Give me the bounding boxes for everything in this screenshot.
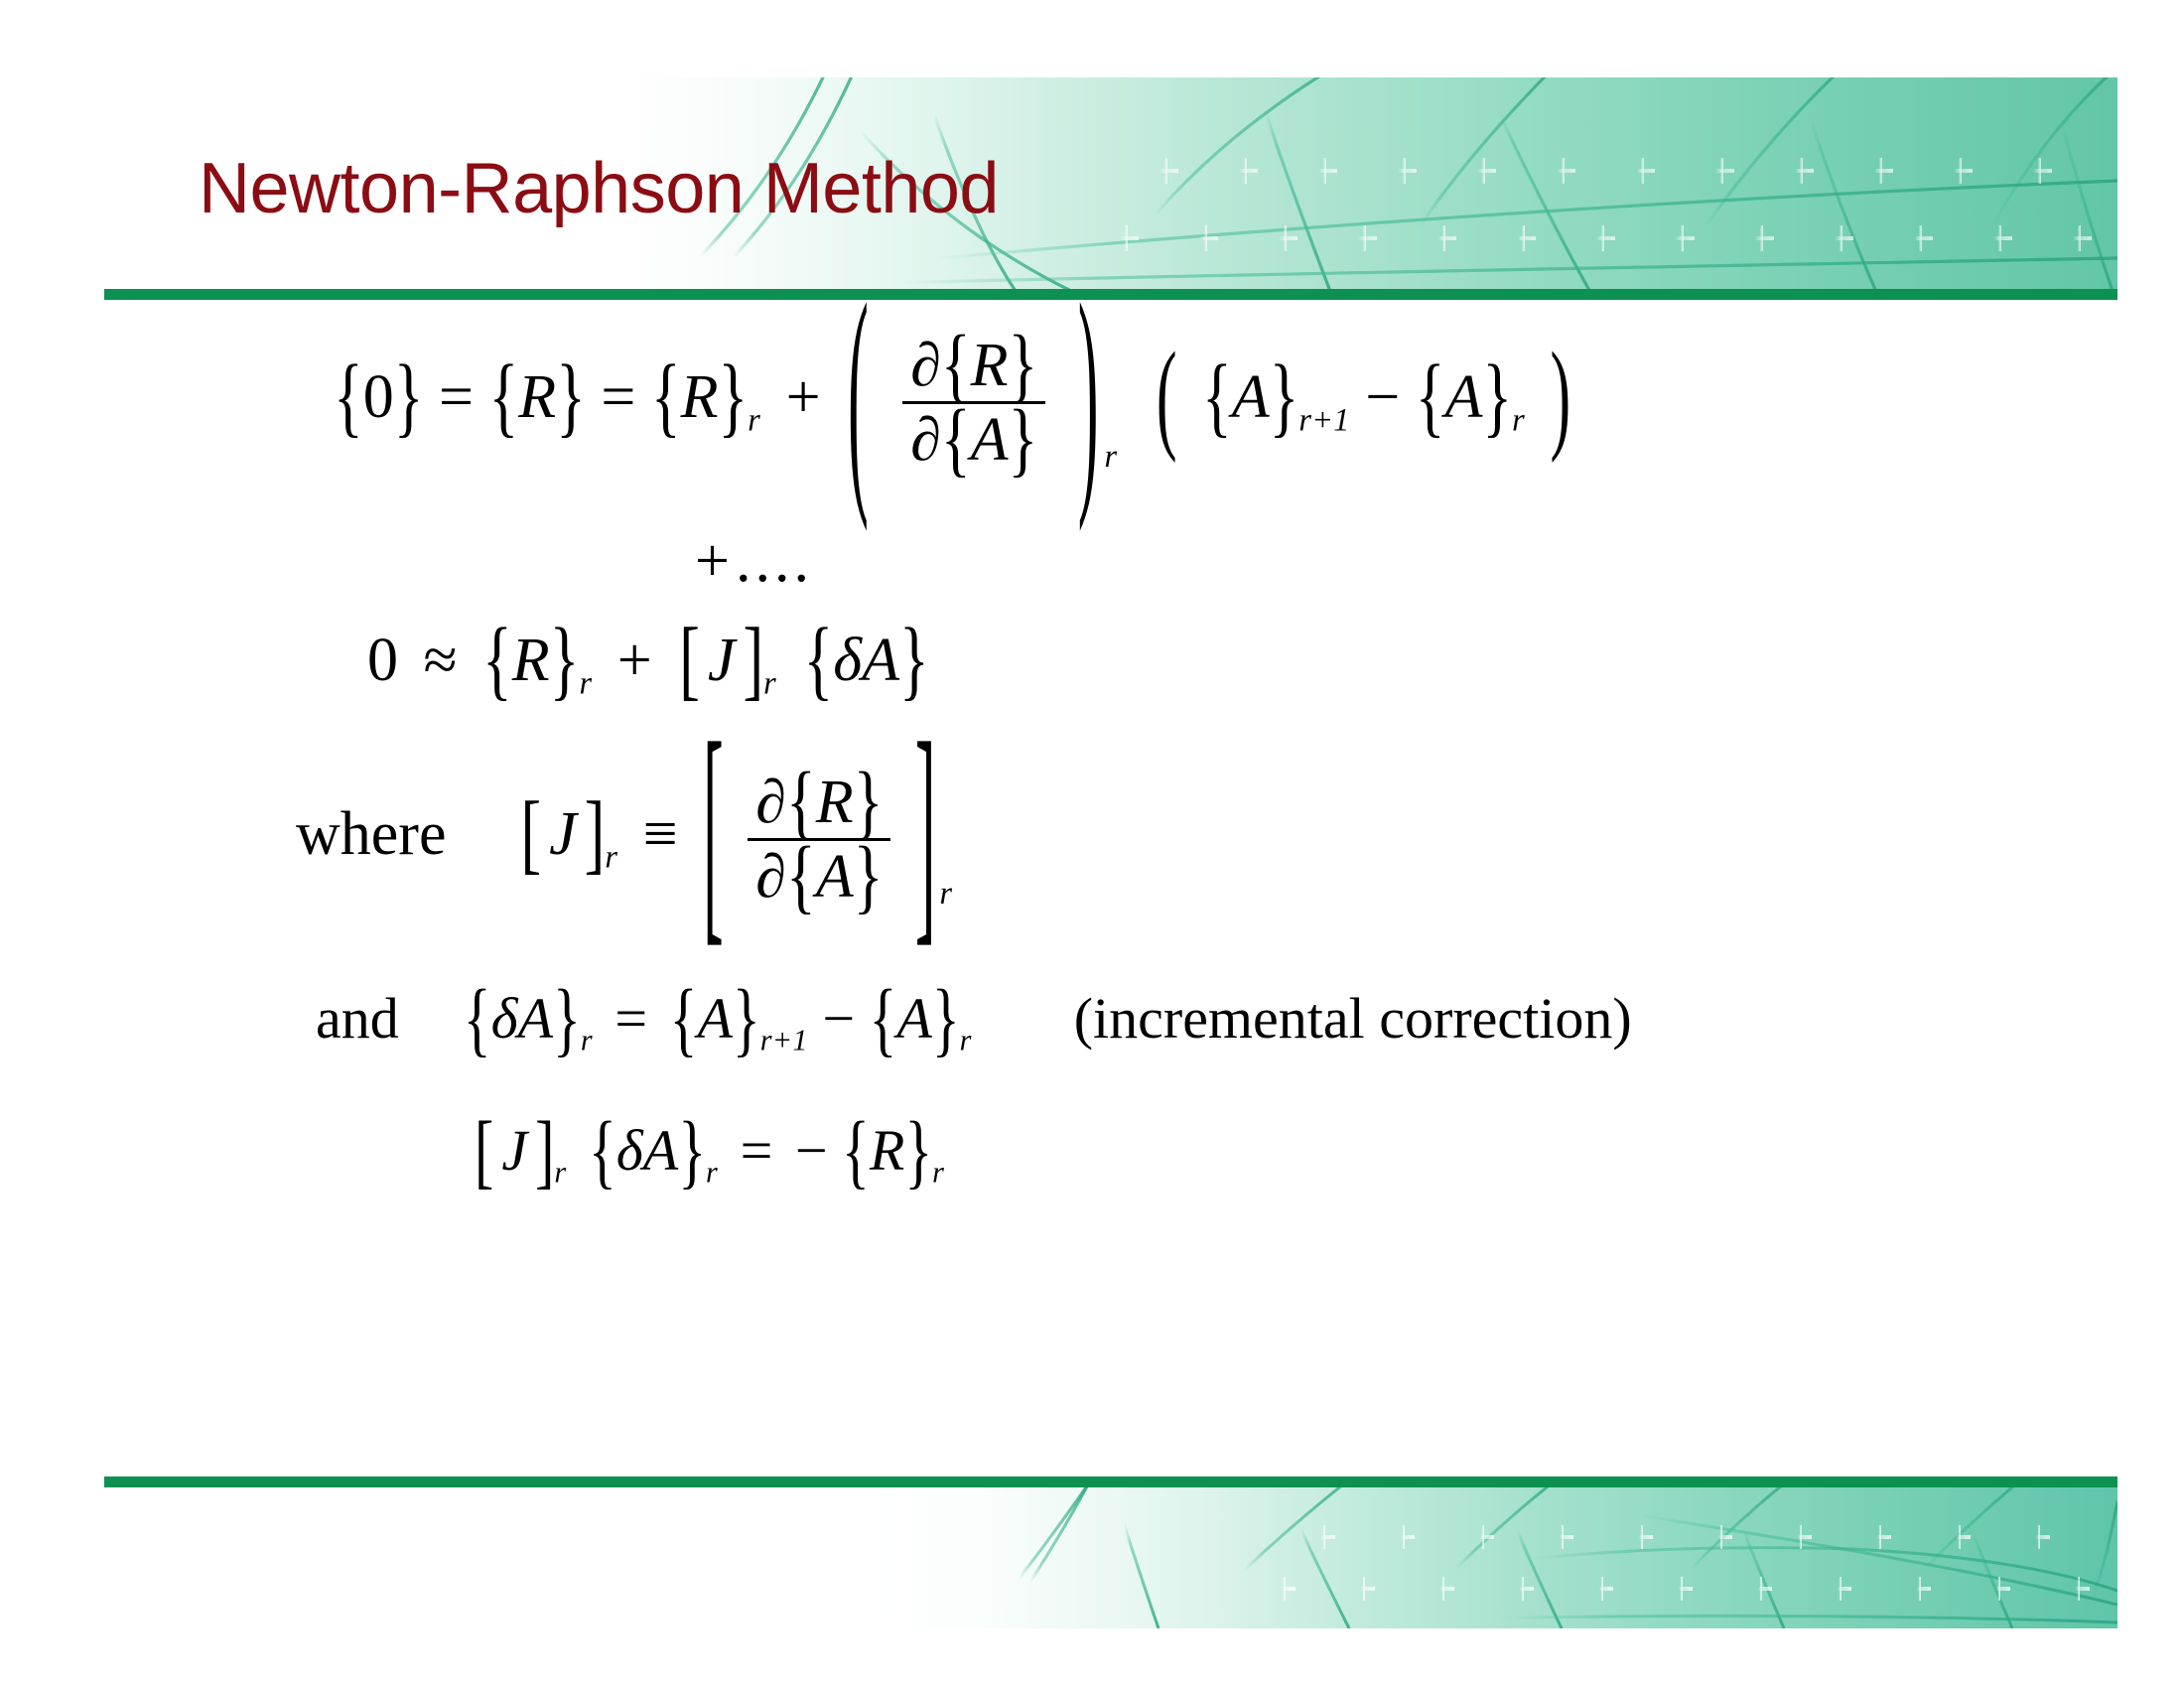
bracket-open: [ bbox=[475, 1102, 493, 1198]
ellipsis: .... bbox=[736, 527, 813, 595]
iteration-subscript: r bbox=[763, 665, 776, 701]
bracket-close: ] bbox=[743, 610, 763, 712]
brace-open: { bbox=[786, 832, 816, 921]
brace-open: { bbox=[589, 1102, 616, 1198]
minus-sign: − bbox=[795, 1118, 828, 1183]
jacobian-matrix: J bbox=[708, 627, 736, 694]
unknown-vector-2: A bbox=[1444, 363, 1482, 431]
iteration-subscript: r bbox=[932, 1156, 944, 1190]
residual-vector: R bbox=[971, 332, 1009, 399]
partial-symbol: ∂ bbox=[910, 406, 941, 474]
unknown-vector: A bbox=[643, 1118, 678, 1183]
paren-close-large: ) bbox=[1078, 253, 1099, 542]
brace-open: { bbox=[482, 610, 512, 712]
brace-open: { bbox=[1416, 347, 1445, 449]
brace-open: { bbox=[1202, 347, 1232, 449]
equals-sign: = bbox=[614, 986, 647, 1051]
iteration-subscript-next: r+1 bbox=[760, 1024, 808, 1057]
brace-close: } bbox=[550, 610, 580, 712]
delta-symbol: δ bbox=[616, 1118, 643, 1183]
brace-close: } bbox=[1009, 395, 1038, 485]
brace-open: { bbox=[489, 347, 519, 449]
partial-symbol: ∂ bbox=[755, 843, 786, 911]
brace-close: } bbox=[553, 970, 581, 1066]
jacobian-fraction: ∂{R} ∂{A} bbox=[748, 770, 890, 911]
iteration-subscript: r bbox=[581, 1024, 593, 1057]
footer-line-art bbox=[104, 1487, 2117, 1628]
equation-stack: {0} = {R} = {R}r + ( ∂{R} ∂{A} )r ( {A}r… bbox=[0, 298, 2184, 1470]
page-title: Newton-Raphson Method bbox=[199, 149, 999, 228]
jacobian-fraction: ∂{R} ∂{A} bbox=[902, 333, 1045, 474]
residual-vector-2: R bbox=[681, 363, 719, 431]
delta-symbol: δ bbox=[491, 986, 518, 1051]
partial-symbol: ∂ bbox=[755, 769, 786, 836]
unknown-vector-1: A bbox=[697, 986, 732, 1051]
slide-canvas: Newton-Raphson Method {0} = {R} = {R}r +… bbox=[0, 0, 2184, 1688]
unknown-vector: A bbox=[862, 627, 899, 694]
and-label: and bbox=[316, 986, 399, 1051]
identically-equal-sign: ≡ bbox=[643, 800, 678, 868]
incremental-correction-annotation: (incremental correction) bbox=[1074, 986, 1632, 1051]
footer-decoration-band bbox=[104, 1487, 2117, 1628]
bracket-open: [ bbox=[520, 783, 541, 886]
iteration-subscript: r bbox=[605, 839, 617, 875]
equation-jacobian-definition: where [J]r ≡ [ ∂{R} ∂{A} ]r bbox=[296, 770, 952, 912]
plus-sign: + bbox=[617, 627, 652, 694]
bracket-open: [ bbox=[679, 610, 700, 712]
brace-open: { bbox=[870, 970, 897, 1066]
scalar-zero: 0 bbox=[367, 627, 398, 694]
brace-close: } bbox=[1270, 347, 1299, 449]
brace-close: } bbox=[854, 832, 884, 921]
brace-open: { bbox=[842, 1102, 870, 1198]
brace-close: } bbox=[394, 347, 424, 449]
scalar-zero: 0 bbox=[363, 363, 394, 431]
iteration-subscript-next: r+1 bbox=[1298, 402, 1349, 438]
fraction-denominator: ∂{A} bbox=[902, 401, 1045, 474]
plus-sign: + bbox=[786, 363, 821, 431]
equals-sign: = bbox=[741, 1118, 773, 1183]
residual-vector: R bbox=[870, 1118, 904, 1183]
delta-symbol: δ bbox=[833, 627, 862, 694]
partial-symbol: ∂ bbox=[910, 332, 941, 399]
brace-close: } bbox=[719, 347, 749, 449]
equation-higher-order-terms: +.... bbox=[695, 526, 813, 597]
plus-sign: + bbox=[695, 527, 730, 595]
unknown-vector-2: A bbox=[896, 986, 931, 1051]
fraction-denominator: ∂{A} bbox=[748, 838, 890, 911]
footer-accent-rule bbox=[104, 1477, 2117, 1487]
brace-close: } bbox=[1482, 347, 1512, 449]
iteration-subscript: r bbox=[706, 1156, 718, 1190]
brace-close: } bbox=[904, 1102, 932, 1198]
unknown-vector: A bbox=[816, 843, 854, 911]
brace-open: { bbox=[651, 347, 681, 449]
residual-vector: R bbox=[816, 769, 854, 836]
brace-close: } bbox=[678, 1102, 706, 1198]
fraction-numerator: ∂{R} bbox=[902, 333, 1045, 401]
paren-open-medium: ( bbox=[1157, 328, 1177, 469]
unknown-vector: A bbox=[518, 986, 553, 1051]
iteration-subscript: r bbox=[579, 665, 592, 701]
equals-sign-1: = bbox=[439, 363, 474, 431]
unknown-vector-1: A bbox=[1232, 363, 1270, 431]
equation-taylor-expansion: {0} = {R} = {R}r + ( ∂{R} ∂{A} )r ( {A}r… bbox=[334, 333, 1570, 475]
iteration-subscript: r bbox=[554, 1156, 566, 1190]
equation-incremental-correction: and {δA}r = {A}r+1 − {A}r (incremental c… bbox=[316, 985, 1632, 1058]
paren-close-medium: ) bbox=[1550, 328, 1570, 469]
minus-sign: − bbox=[822, 986, 855, 1051]
brace-open: { bbox=[803, 610, 833, 712]
jacobian-matrix: J bbox=[549, 800, 577, 868]
brace-open: { bbox=[334, 347, 363, 449]
iteration-subscript: r bbox=[940, 875, 953, 911]
residual-vector-1: R bbox=[518, 363, 556, 431]
brace-close: } bbox=[733, 970, 760, 1066]
jacobian-matrix: J bbox=[501, 1118, 527, 1183]
bracket-close: ] bbox=[535, 1102, 554, 1198]
iteration-subscript: r bbox=[1104, 438, 1117, 474]
iteration-subscript: r bbox=[960, 1024, 972, 1057]
minus-sign: − bbox=[1365, 363, 1400, 431]
approximately-equal-sign: ≈ bbox=[424, 627, 458, 694]
brace-open: { bbox=[941, 395, 971, 485]
unknown-vector: A bbox=[971, 406, 1009, 474]
iteration-subscript: r bbox=[748, 402, 760, 438]
brace-open: { bbox=[670, 970, 698, 1066]
bracket-close: ] bbox=[585, 783, 606, 886]
fraction-numerator: ∂{R} bbox=[748, 770, 890, 838]
residual-vector: R bbox=[512, 627, 550, 694]
brace-close: } bbox=[556, 347, 586, 449]
paren-open-large: ( bbox=[848, 253, 869, 542]
brace-open: { bbox=[464, 970, 491, 1066]
equation-linearized-residual: 0 ≈ {R}r + [J]r {δA} bbox=[367, 626, 929, 702]
brace-close: } bbox=[932, 970, 960, 1066]
equation-newton-raphson-system: [J]r {δA}r = − {R}r bbox=[475, 1117, 944, 1191]
iteration-subscript: r bbox=[1512, 402, 1525, 438]
equals-sign-2: = bbox=[601, 363, 635, 431]
bracket-open-large: [ bbox=[703, 694, 724, 976]
bracket-close-large: ] bbox=[915, 694, 936, 976]
where-label: where bbox=[296, 800, 446, 868]
